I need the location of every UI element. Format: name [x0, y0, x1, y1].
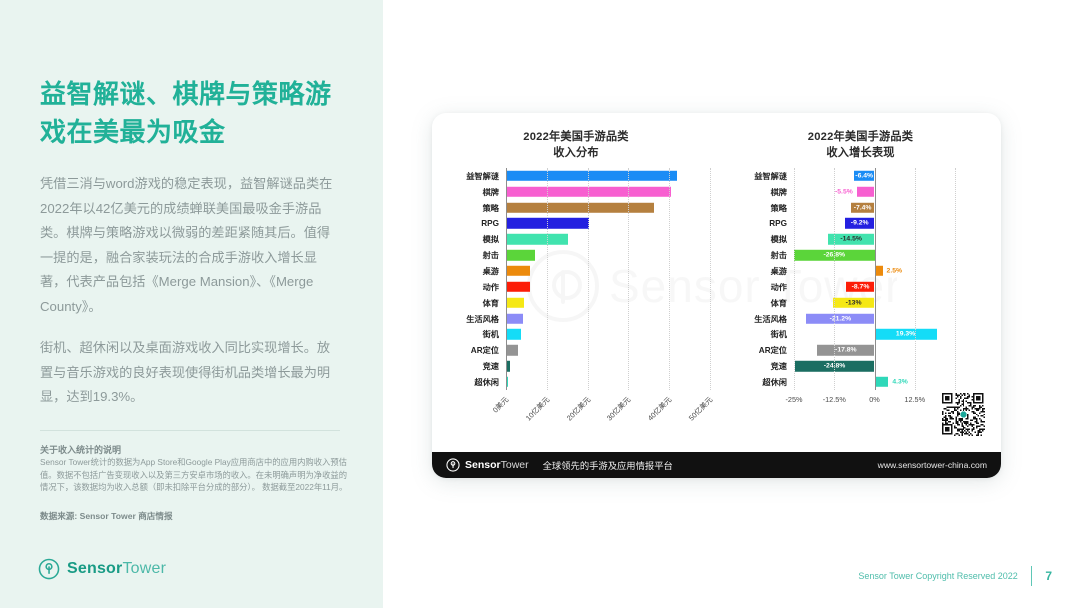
category-label: 桌游 [720, 265, 794, 277]
bar-track: -9.2% [794, 216, 1001, 232]
chart-title-right-line2: 收入增长表现 [720, 146, 1001, 162]
zero-axis-line [506, 168, 507, 390]
bar-track [506, 168, 720, 184]
chart-bar [857, 187, 875, 197]
chart-card: Sensor Tower 2022年美国手游品类 收入分布 益智解谜棋牌策略RP… [432, 113, 1001, 478]
category-label: 动作 [720, 281, 794, 293]
bar-track: -13% [794, 295, 1001, 311]
category-label: 射击 [432, 249, 506, 261]
card-footer-wordmark: SensorTower [465, 459, 529, 471]
category-label: 桌游 [432, 265, 506, 277]
chart-bar-row: 超休闲 [432, 374, 720, 390]
paragraph-2: 街机、超休闲以及桌面游戏收入同比实现增长。放置与音乐游戏的良好表现使得街机品类增… [40, 336, 340, 410]
chart-bar-row: 棋牌-5.5% [720, 184, 1001, 200]
category-label: 竞速 [720, 360, 794, 372]
bar-track: 19.3% [794, 326, 1001, 342]
gridline [955, 168, 956, 390]
sensor-tower-mark-icon [446, 458, 460, 472]
chart-bar-row: 竞速 [432, 358, 720, 374]
paragraph-1: 凭借三消与word游戏的稳定表现，益智解谜品类在2022年以42亿美元的成绩蝉联… [40, 172, 340, 319]
gridline [794, 168, 795, 390]
bar-track: -21.2% [794, 311, 1001, 327]
x-axis-tick-label: -25% [785, 395, 802, 404]
category-label: AR定位 [720, 344, 794, 356]
x-axis-tick-label: 20亿美元 [564, 395, 592, 423]
bar-track [506, 184, 720, 200]
chart-bar-row: 桌游2.5% [720, 263, 1001, 279]
chart-bar-row: 射击-26.8% [720, 247, 1001, 263]
gridline [915, 168, 916, 390]
chart-bar-row: RPG [432, 216, 720, 232]
chart-bar-row: 策略-7.4% [720, 200, 1001, 216]
card-footer-logo-light: Tower [501, 459, 529, 471]
bar-track [506, 263, 720, 279]
card-footer-logo-bold: Sensor [465, 459, 501, 471]
logo-bold: Sensor [67, 560, 122, 577]
category-label: 街机 [432, 328, 506, 340]
plot-area-left: 益智解谜棋牌策略RPG模拟射击桌游动作体育生活风格街机AR定位竞速超休闲0美元1… [432, 168, 720, 390]
chart-bar-row: 超休闲4.3% [720, 374, 1001, 390]
logo-wordmark: SensorTower [67, 560, 166, 578]
category-label: 策略 [720, 202, 794, 214]
chart-bar [506, 202, 654, 212]
chart-bar-row: 体育-13% [720, 295, 1001, 311]
qr-code-image [942, 393, 985, 436]
category-label: 超休闲 [720, 376, 794, 388]
category-label: 街机 [720, 328, 794, 340]
page-title: 益智解谜、棋牌与策略游戏在美最为吸金 [40, 75, 350, 151]
qr-code[interactable] [942, 393, 985, 436]
x-axis-tick-label: 40亿美元 [646, 395, 674, 423]
category-label: 体育 [720, 297, 794, 309]
chart-bar-row: 策略 [432, 200, 720, 216]
category-label: 益智解谜 [432, 170, 506, 182]
bar-track: -17.8% [794, 342, 1001, 358]
chart-bar [506, 171, 677, 181]
category-label: 竞速 [432, 360, 506, 372]
chart-bar-row: 街机19.3% [720, 326, 1001, 342]
sensor-tower-mark-icon [38, 558, 60, 580]
chart-bar-row: 街机 [432, 326, 720, 342]
gridline [834, 168, 835, 390]
bar-track [506, 279, 720, 295]
bar-track [506, 295, 720, 311]
x-axis-tick-label: -12.5% [823, 395, 846, 404]
chart-bar [506, 250, 535, 260]
bar-track: -24.8% [794, 358, 1001, 374]
chart-bar-row: AR定位-17.8% [720, 342, 1001, 358]
chart-bar-row: RPG-9.2% [720, 216, 1001, 232]
gridline [710, 168, 711, 390]
chart-title-left: 2022年美国手游品类 收入分布 [432, 130, 720, 161]
chart-bar [506, 313, 523, 323]
chart-bar [875, 266, 883, 276]
chart-title-left-line2: 收入分布 [432, 146, 720, 162]
chart-bar-row: 棋牌 [432, 184, 720, 200]
bar-track: -7.4% [794, 200, 1001, 216]
left-text-panel: 益智解谜、棋牌与策略游戏在美最为吸金 凭借三消与word游戏的稳定表现，益智解谜… [0, 0, 383, 608]
category-label: 生活风格 [432, 313, 506, 325]
note-body: Sensor Tower统计的数据为App Store和Google Play应… [40, 456, 348, 494]
page-number: 7 [1045, 569, 1052, 583]
bar-value-label: 19.3% [896, 331, 915, 338]
category-label: RPG [720, 219, 794, 228]
bar-value-label: -9.2% [851, 220, 869, 227]
bar-track: -26.8% [794, 247, 1001, 263]
chart-bar-row: AR定位 [432, 342, 720, 358]
bar-track: -8.7% [794, 279, 1001, 295]
chart-bar [506, 234, 568, 244]
bar-track: -5.5% [794, 184, 1001, 200]
bar-value-label: -8.7% [852, 283, 870, 290]
bar-rows: 益智解谜棋牌策略RPG模拟射击桌游动作体育生活风格街机AR定位竞速超休闲 [432, 168, 720, 390]
chart-bar [506, 329, 521, 339]
bar-track: -14.5% [794, 231, 1001, 247]
bar-value-label: -14.5% [840, 236, 862, 243]
chart-bar-row: 动作-8.7% [720, 279, 1001, 295]
card-footer-bar: SensorTower 全球领先的手游及应用情报平台 www.sensortow… [432, 452, 1001, 478]
bar-value-label: -6.4% [855, 172, 873, 179]
card-footer-url[interactable]: www.sensortower-china.com [878, 460, 987, 470]
category-label: 益智解谜 [720, 170, 794, 182]
copyright-text: Sensor Tower Copyright Reserved 2022 [858, 571, 1017, 581]
category-label: 动作 [432, 281, 506, 293]
bar-value-label: -7.4% [854, 204, 872, 211]
chart-title-left-line1: 2022年美国手游品类 [432, 130, 720, 146]
chart-bar-row: 射击 [432, 247, 720, 263]
chart-bar-row: 竞速-24.8% [720, 358, 1001, 374]
category-label: 棋牌 [432, 186, 506, 198]
bar-track [506, 216, 720, 232]
chart-bar-row: 生活风格-21.2% [720, 311, 1001, 327]
zero-axis-line [875, 168, 876, 390]
chart-bar-row: 桌游 [432, 263, 720, 279]
category-label: RPG [432, 219, 506, 228]
bar-track [506, 326, 720, 342]
right-chart-area: Sensor Tower 2022年美国手游品类 收入分布 益智解谜棋牌策略RP… [383, 0, 1080, 608]
bar-value-label: -21.2% [830, 315, 852, 322]
plot-area-right: 益智解谜-6.4%棋牌-5.5%策略-7.4%RPG-9.2%模拟-14.5%射… [720, 168, 1001, 390]
divider [40, 430, 340, 431]
bar-track: 4.3% [794, 374, 1001, 390]
chart-title-right-line1: 2022年美国手游品类 [720, 130, 1001, 146]
bar-track [506, 247, 720, 263]
category-label: AR定位 [432, 344, 506, 356]
bar-value-label: 4.3% [892, 378, 908, 385]
bar-track: 2.5% [794, 263, 1001, 279]
x-axis-tick-label: 0美元 [491, 395, 511, 415]
bar-value-label: -5.5% [835, 188, 853, 195]
category-label: 体育 [432, 297, 506, 309]
category-label: 射击 [720, 249, 794, 261]
category-label: 模拟 [432, 233, 506, 245]
bar-value-label: -13% [846, 299, 862, 306]
note-title: 关于收入统计的说明 [40, 443, 345, 456]
chart-bar-row: 生活风格 [432, 311, 720, 327]
chart-title-right: 2022年美国手游品类 收入增长表现 [720, 130, 1001, 161]
body-copy: 凭借三消与word游戏的稳定表现，益智解谜品类在2022年以42亿美元的成绩蝉联… [40, 172, 340, 410]
chart-bar-row: 动作 [432, 279, 720, 295]
x-axis-tick-label: 10亿美元 [524, 395, 552, 423]
footer-separator [1031, 566, 1033, 586]
bar-value-label: 2.5% [887, 267, 903, 274]
bar-track [506, 231, 720, 247]
gridline [547, 168, 548, 390]
gridline [669, 168, 670, 390]
chart-bar [506, 345, 518, 355]
bar-track [506, 374, 720, 390]
x-axis-tick-label: 12.5% [904, 395, 925, 404]
chart-panes: 2022年美国手游品类 收入分布 益智解谜棋牌策略RPG模拟射击桌游动作体育生活… [432, 113, 1001, 429]
bar-value-label: -17.8% [835, 347, 857, 354]
chart-bar [506, 282, 530, 292]
category-label: 超休闲 [432, 376, 506, 388]
x-axis-tick-label: 30亿美元 [605, 395, 633, 423]
gridline [628, 168, 629, 390]
bar-track: -6.4% [794, 168, 1001, 184]
category-label: 策略 [432, 202, 506, 214]
bar-track [506, 342, 720, 358]
sensor-tower-logo: SensorTower [38, 558, 166, 580]
chart-bar-row: 模拟 [432, 231, 720, 247]
category-label: 模拟 [720, 233, 794, 245]
chart-bar [506, 297, 524, 307]
note-source: 数据来源: Sensor Tower 商店情报 [40, 510, 345, 522]
chart-bar-row: 体育 [432, 295, 720, 311]
bar-track [506, 200, 720, 216]
x-axis-tick-label: 50亿美元 [687, 395, 715, 423]
bar-track [506, 311, 720, 327]
category-label: 生活风格 [720, 313, 794, 325]
chart-bar [506, 266, 530, 276]
x-axis-tick-label: 0% [869, 395, 880, 404]
revenue-distribution-chart: 2022年美国手游品类 收入分布 益智解谜棋牌策略RPG模拟射击桌游动作体育生活… [432, 113, 720, 429]
bar-track [506, 358, 720, 374]
page-footer: Sensor Tower Copyright Reserved 2022 7 [858, 566, 1052, 586]
revenue-growth-chart: 2022年美国手游品类 收入增长表现 益智解谜-6.4%棋牌-5.5%策略-7.… [720, 113, 1001, 429]
chart-bar-row: 模拟-14.5% [720, 231, 1001, 247]
chart-bar [875, 377, 889, 387]
card-footer-logo: SensorTower [446, 458, 529, 472]
chart-bar-row: 益智解谜-6.4% [720, 168, 1001, 184]
gridline [588, 168, 589, 390]
bar-rows: 益智解谜-6.4%棋牌-5.5%策略-7.4%RPG-9.2%模拟-14.5%射… [720, 168, 1001, 390]
chart-bar-row: 益智解谜 [432, 168, 720, 184]
logo-light: Tower [122, 560, 166, 577]
chart-bar [506, 187, 671, 197]
card-footer-tagline: 全球领先的手游及应用情报平台 [543, 458, 673, 472]
slide-page: 益智解谜、棋牌与策略游戏在美最为吸金 凭借三消与word游戏的稳定表现，益智解谜… [0, 0, 1080, 608]
category-label: 棋牌 [720, 186, 794, 198]
